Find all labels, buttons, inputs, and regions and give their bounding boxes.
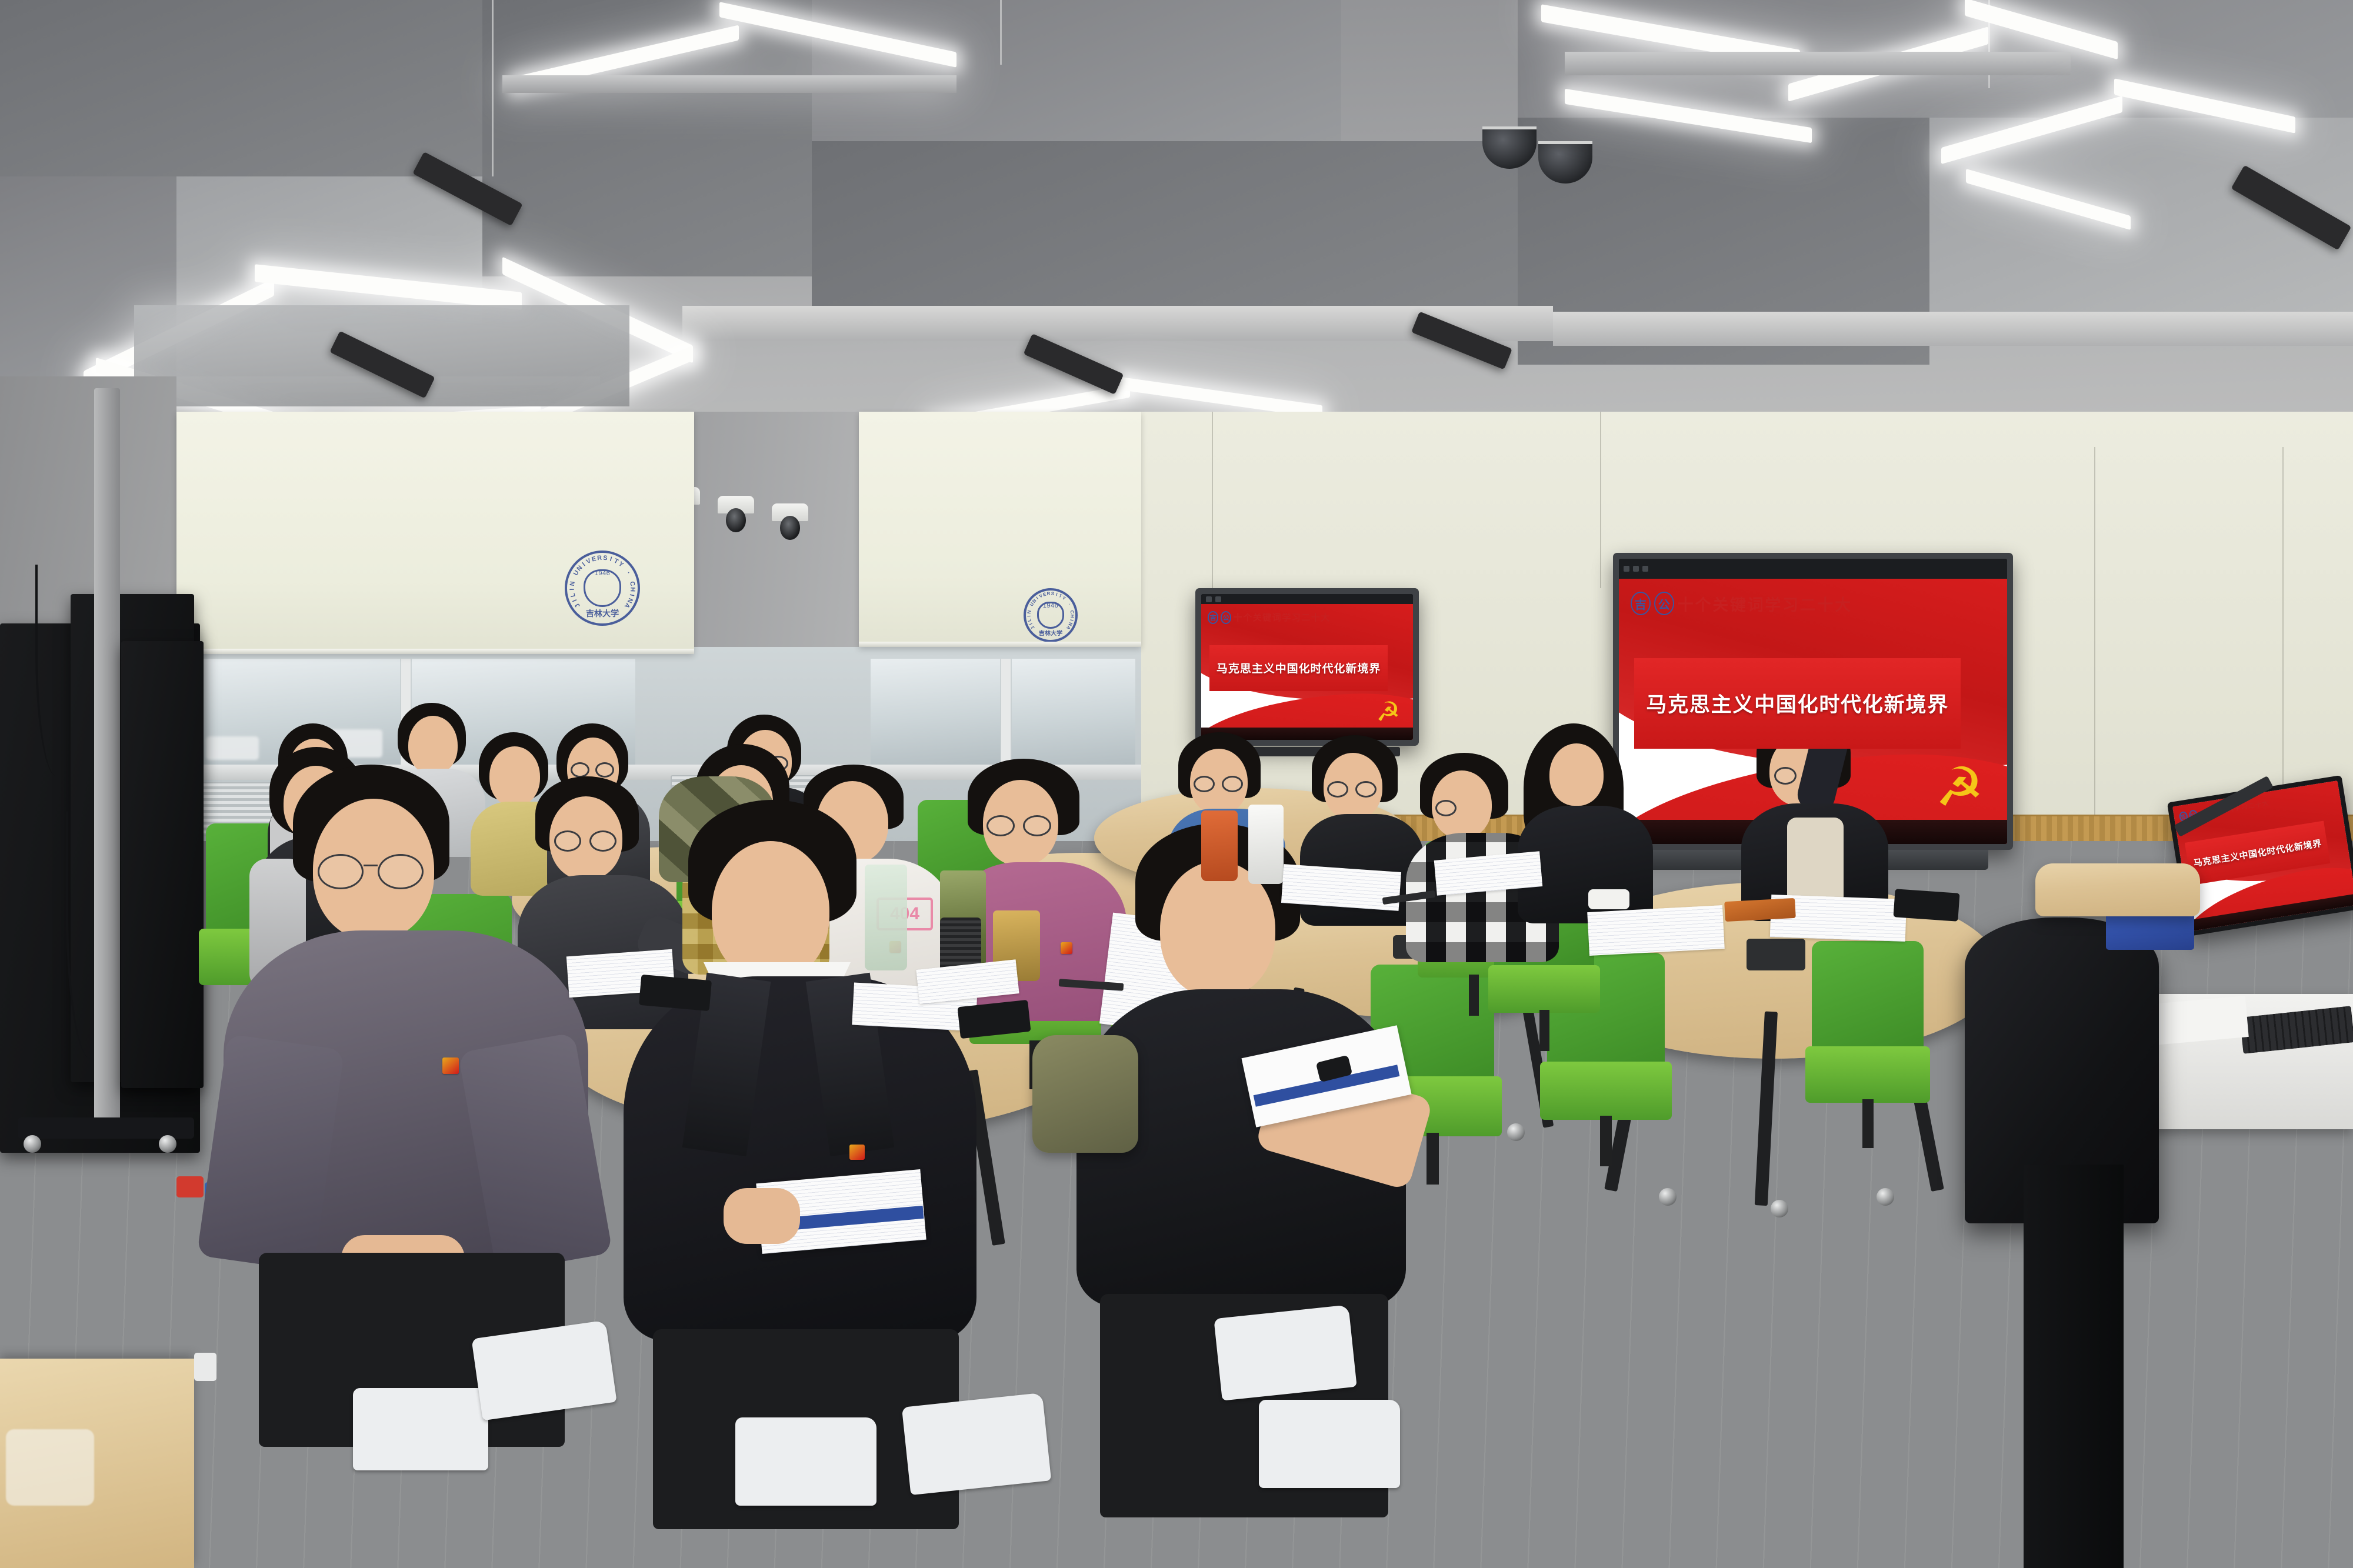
slide-banner: 马克思主义中国化时代化新境界 [1634,658,1960,748]
classroom-chair[interactable] [1812,941,1924,1129]
slide-banner-title: 马克思主义中国化时代化新境界 [1217,660,1381,676]
jilin-university-logo: 1946 JILIN UNIVERSITY · CHINA吉林大学 [565,551,640,626]
slide-banner: 马克思主义中国化时代化新境界 [1209,645,1387,691]
bottle-orange-cap [1201,810,1238,881]
glasses-icon [1355,781,1377,798]
ptz-camera-icon [772,503,808,542]
shoe [902,1393,1051,1495]
hand [724,1188,800,1244]
left-interactive-panel[interactable]: 吉 公 十个关键词学习二十大 马克思主义中国化时代化新境界 ☭ [1195,588,1419,746]
person [1518,723,1653,918]
party-emblem-icon: ☭ [1376,698,1400,725]
slide-banner-title: 马克思主义中国化时代化新境界 [1646,688,1949,718]
window-mullion [1001,659,1011,765]
shoe [1214,1305,1357,1400]
party-badge [849,1145,865,1160]
face [712,841,829,981]
screen-titlebar [1201,594,1413,604]
ceiling-soffit [1553,312,2353,346]
backpack [1032,1035,1138,1153]
glasses-icon [589,830,616,852]
caster-wheel [159,1135,176,1153]
presentation-slide: 吉 公 十个关键词学习二十大 马克思主义中国化时代化新境界 ☭ [1201,604,1413,740]
shirt-cuff [1588,889,1629,909]
university-seal-icon: 吉 [1208,611,1219,624]
roller-blind[interactable]: 1946 JILIN UNIVERSITY · CHINA吉林大学 [859,412,1141,647]
av-display-panel [121,641,204,1088]
glasses-icon [318,854,364,889]
wall-seam [2094,447,2095,859]
paper-stack [2151,996,2248,1045]
caster-wheel [1877,1188,1894,1206]
ceiling-panel [0,0,482,176]
slide-header-title: 十个关键词学习二十大 [1234,611,1331,623]
party-badge [1061,942,1072,954]
window-glass [1012,659,1135,765]
classroom-photo: 1946 JILIN UNIVERSITY · CHINA吉林大学 1946 J… [0,0,2353,1568]
bottle-clear-jar [865,865,907,970]
slide-banner-title: 马克思主义中国化时代化新境界 [2192,837,2322,869]
toy-block [176,1176,204,1197]
glasses-icon [1435,800,1457,816]
hex-pendant-light [482,0,976,171]
suit-jacket [624,976,976,1341]
glasses-icon [986,815,1015,836]
glasses-icon [595,762,614,778]
roller-blind[interactable]: 1946 JILIN UNIVERSITY · CHINA吉林大学 [176,412,694,654]
jilin-university-logo: 1946 JILIN UNIVERSITY · CHINA吉林大学 [1024,588,1078,642]
window-glass [871,659,1000,765]
university-seal-icon: 公 [1221,611,1232,624]
smartphone[interactable] [1893,889,1959,922]
inner-top [1787,818,1844,906]
shoe [735,1417,876,1506]
slide-header-title: 十个关键词学习二十大 [1678,592,1852,615]
lectern-column [2024,1165,2124,1568]
glasses-icon [1023,815,1051,836]
logo-chinese-name: 吉林大学 [567,608,638,619]
glasses-icon [1327,781,1348,798]
wall-seam [1600,412,1601,588]
glasses-icon [378,854,424,889]
logo-chinese-name: 吉林大学 [1026,628,1075,637]
shoe [1259,1400,1400,1488]
floor-marker [194,1353,216,1381]
side-table [2035,863,2200,916]
glasses-icon [1222,776,1243,792]
outside-vehicle [206,736,259,760]
university-seal-icon: 公 [1654,592,1674,615]
ptz-camera-icon [718,496,754,535]
plastic-bag [6,1429,94,1506]
screen-titlebar [1619,559,2007,579]
glasses-icon [1194,776,1215,792]
orange-notebook [1724,898,1796,922]
caster-wheel [24,1135,41,1153]
university-seal-icon: 吉 [1631,592,1651,615]
bottle-white [1248,805,1284,884]
caster-wheel [1659,1188,1677,1206]
shoe [353,1388,488,1470]
party-emblem-icon: ☭ [1935,760,1984,815]
glasses-bridge-icon [364,865,378,866]
glasses-icon [1774,767,1797,785]
party-badge [442,1057,459,1074]
handout-document [1587,905,1725,956]
cable-grommet [1747,939,1805,970]
caster-wheel [1507,1123,1525,1141]
lamp-cord [1000,0,1002,65]
caster-wheel [1771,1200,1788,1217]
smartphone[interactable] [639,975,712,1011]
